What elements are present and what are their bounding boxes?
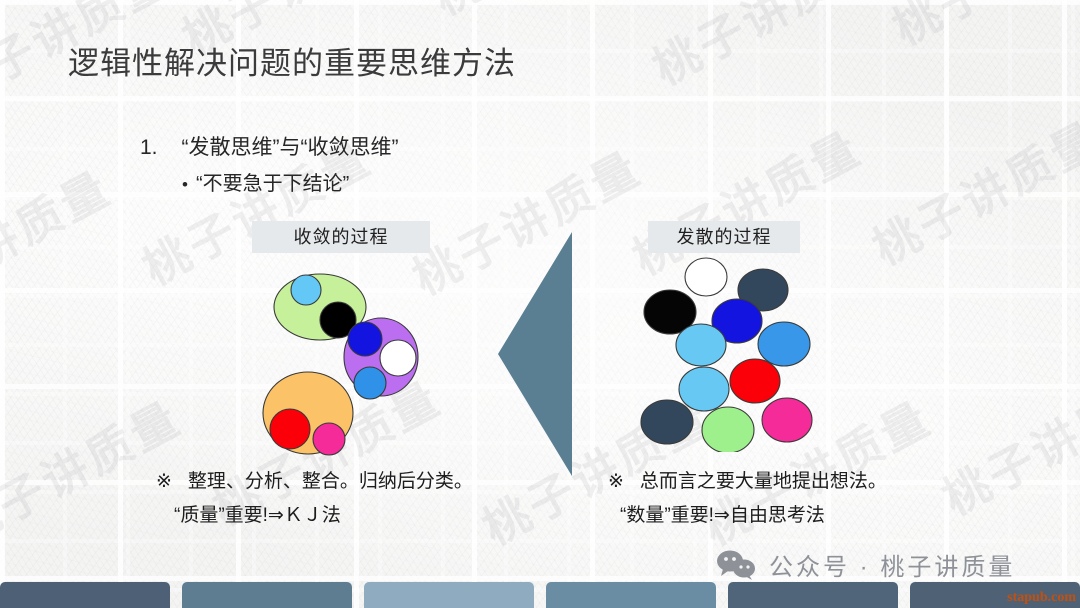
slide-canvas: 桃子讲质量桃子讲质量桃子讲质量桃子讲质量桃子讲质量桃子讲质量桃子讲质量桃子讲质量…: [0, 0, 1080, 608]
panel-header-divergent: 发散的过程: [648, 221, 800, 253]
dot-slate2: [641, 400, 693, 444]
brand-block: 公众号 · 桃子讲质量: [716, 547, 1015, 582]
dot-blue: [348, 322, 382, 356]
bottom-decoration-bar: [0, 582, 1080, 608]
bottom-bar-block: [728, 582, 898, 608]
bottom-bar-block: [364, 582, 534, 608]
dot-pink: [762, 398, 812, 442]
bullet-level1-number: 1.: [140, 136, 158, 159]
page-title: 逻辑性解决问题的重要思维方法: [68, 38, 516, 83]
dot-white: [380, 340, 416, 376]
caption-right-line2: “数量”重要!⇒自由思考法: [620, 500, 825, 527]
dot-sky-light: [676, 324, 726, 366]
brand-text: 公众号 · 桃子讲质量: [769, 547, 1015, 582]
bottom-bar-block: [546, 582, 716, 608]
reference-mark-icon: ※: [608, 471, 624, 492]
caption-left-line2: “质量”重要!⇒ＫＪ法: [174, 500, 341, 527]
convergent-cluster-diagram: [250, 262, 450, 462]
caption-left-line1: ※整理、分析、整合。归纳后分类。: [156, 466, 473, 493]
dot-white: [685, 258, 727, 296]
bullet-level2: •“不要急于下结论”: [182, 167, 349, 196]
caption-right-line1-text: 总而言之要大量地提出想法。: [640, 471, 887, 492]
bullet-level1-text: “发散思维”与“收敛思维”: [182, 136, 399, 159]
caption-left-line1-text: 整理、分析、整合。归纳后分类。: [188, 471, 473, 492]
caption-right-line1: ※总而言之要大量地提出想法。: [608, 466, 887, 493]
dot-pink: [313, 423, 345, 455]
bottom-bar-block: [0, 582, 170, 608]
bullet-level2-text: “不要急于下结论”: [196, 173, 349, 195]
dot-sky-light2: [679, 367, 729, 411]
divergent-dots-diagram: [638, 252, 828, 452]
dot-azure: [354, 367, 386, 399]
bottom-bar-block: [182, 582, 352, 608]
reference-mark-icon: ※: [156, 471, 172, 492]
wechat-icon: [716, 550, 756, 580]
dot-sky-blue: [291, 275, 321, 305]
panel-header-convergent: 收敛的过程: [252, 221, 430, 253]
site-watermark: stapub.com: [1007, 590, 1076, 606]
dot-red: [270, 409, 310, 449]
bullet-marker-icon: •: [182, 175, 188, 194]
dot-green: [702, 407, 754, 452]
left-pointing-arrow-icon: [498, 232, 572, 476]
dot-azure: [758, 322, 810, 366]
bullet-level1: 1.“发散思维”与“收敛思维”: [140, 131, 399, 161]
dot-red: [730, 359, 780, 403]
